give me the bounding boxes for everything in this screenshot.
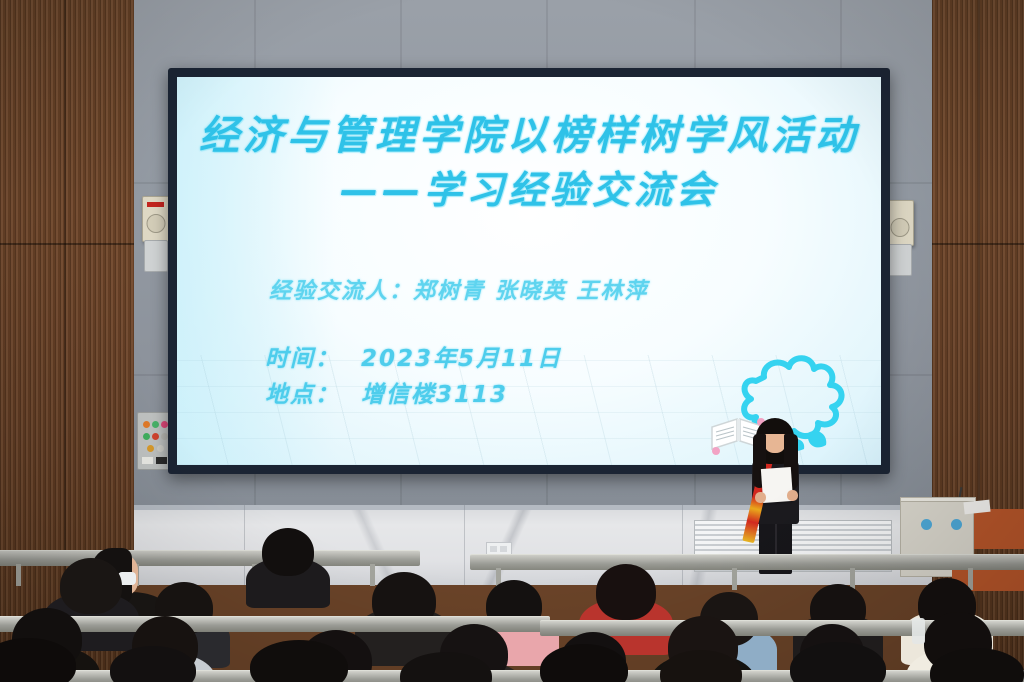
slide-title-line2: ——学习经验交流会 xyxy=(177,159,881,214)
slide-place-label: 地点： xyxy=(265,375,361,409)
wall-speaker-right-sub xyxy=(888,244,912,276)
bench-leg xyxy=(16,564,21,586)
student-head xyxy=(596,564,656,620)
presenter-fringe xyxy=(762,423,788,434)
student-head xyxy=(60,558,122,614)
slide-title-line1: 经济与管理学院以榜样树学风活动 xyxy=(177,103,881,161)
wall-speaker-left xyxy=(142,196,170,242)
slide-time-row: 时间：2023年5月11日 xyxy=(265,339,562,373)
wall-speaker-left-sub xyxy=(144,240,168,272)
wall-control-panel[interactable] xyxy=(137,412,171,470)
bench-leg xyxy=(370,564,375,586)
bench-row xyxy=(0,550,420,566)
slide-time-value: 2023年5月11日 xyxy=(361,346,562,372)
slide-time-label: 时间： xyxy=(265,339,361,373)
water-bottle xyxy=(912,618,925,644)
wall-speaker-right xyxy=(886,200,914,246)
presenter-hand-right xyxy=(787,490,798,501)
bench-row xyxy=(470,554,1024,570)
lecture-hall-photo: 经济与管理学院以榜样树学风活动 ——学习经验交流会 经验交流人：郑树青 张晓英 … xyxy=(0,0,1024,682)
presenter-hand-left xyxy=(755,492,766,503)
slide-place-row: 地点：增信楼3113 xyxy=(265,375,508,409)
student-head xyxy=(262,528,314,576)
bench-leg xyxy=(732,568,737,590)
seated-students xyxy=(0,520,1024,682)
slide-presenters-line: 经验交流人：郑树青 张晓英 王林萍 xyxy=(269,273,648,305)
projection-screen: 经济与管理学院以榜样树学风活动 ——学习经验交流会 经验交流人：郑树青 张晓英 … xyxy=(168,68,890,474)
slide-place-value: 增信楼3113 xyxy=(361,382,508,408)
presentation-slide: 经济与管理学院以榜样树学风活动 ——学习经验交流会 经验交流人：郑树青 张晓英 … xyxy=(177,77,881,465)
